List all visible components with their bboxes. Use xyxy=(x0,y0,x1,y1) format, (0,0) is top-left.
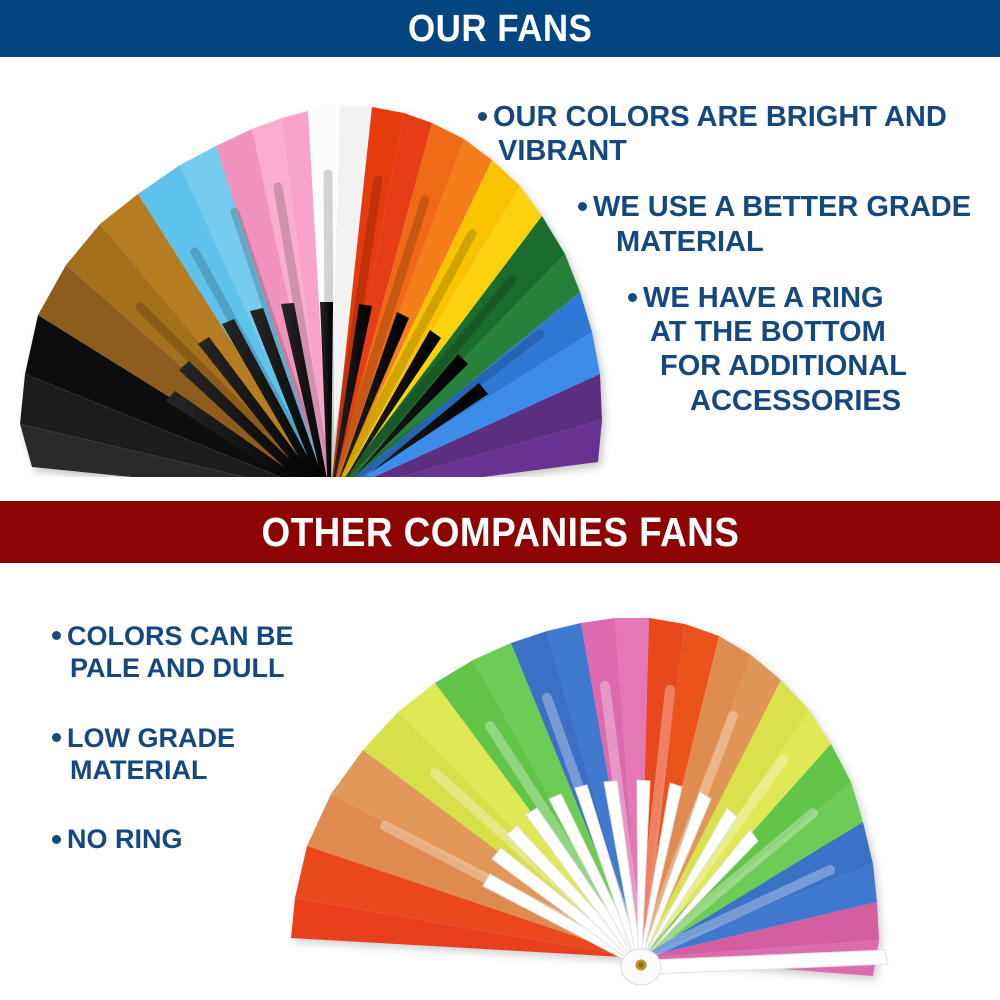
section-other-companies-fans: COLORS CAN BE PALE AND DULL LOW GRADE MA… xyxy=(0,563,1000,1000)
bullet-item: WE USE A BETTER GRADE MATERIAL xyxy=(460,190,990,258)
other-companies-bullet-list: COLORS CAN BE PALE AND DULL LOW GRADE MA… xyxy=(40,621,370,894)
our-fans-bullet-list: OUR COLORS ARE BRIGHT AND VIBRANT WE USE… xyxy=(460,100,990,440)
bullet-line: VIBRANT xyxy=(460,134,990,168)
bullet-dot-icon xyxy=(52,631,61,640)
bullet-item: LOW GRADE MATERIAL xyxy=(40,723,370,787)
bullet-dot-icon xyxy=(52,733,61,742)
section-our-fans: OUR COLORS ARE BRIGHT AND VIBRANT WE USE… xyxy=(0,57,1000,501)
bullet-dot-icon xyxy=(578,202,587,211)
bullet-line: PALE AND DULL xyxy=(70,653,370,685)
bullet-item: WE HAVE A RING AT THE BOTTOM FOR ADDITIO… xyxy=(460,281,990,418)
bullet-line: ACCESSORIES xyxy=(690,384,990,418)
bullet-text: LOW GRADE xyxy=(67,723,235,753)
bullet-text: WE USE A BETTER GRADE xyxy=(593,191,971,223)
bullet-line: COLORS CAN BE xyxy=(52,621,370,653)
bullet-text: NO RING xyxy=(67,824,183,854)
banner-our-fans: OUR FANS xyxy=(0,0,1000,57)
fan-pivot-no-ring xyxy=(621,949,661,985)
bullet-text: OUR COLORS ARE BRIGHT AND xyxy=(493,101,947,133)
bullet-line: WE HAVE A RING xyxy=(628,281,990,315)
bullet-line: MATERIAL xyxy=(70,755,370,787)
bullet-text: COLORS CAN BE xyxy=(67,621,294,651)
bullet-line: OUR COLORS ARE BRIGHT AND xyxy=(478,100,990,134)
bullet-text: WE HAVE A RING xyxy=(643,282,884,314)
bullet-line: LOW GRADE xyxy=(52,723,370,755)
banner-our-fans-title: OUR FANS xyxy=(408,10,592,48)
bullet-line: WE USE A BETTER GRADE xyxy=(578,190,990,224)
other-companies-fan-image xyxy=(285,598,945,988)
bullet-item: NO RING xyxy=(40,824,370,856)
banner-other-companies-fans-title: OTHER COMPANIES FANS xyxy=(261,512,739,553)
bullet-line: MATERIAL xyxy=(578,225,990,259)
bullet-line: NO RING xyxy=(52,824,370,856)
bullet-line: FOR ADDITIONAL xyxy=(660,349,990,383)
bullet-dot-icon xyxy=(478,112,487,121)
bullet-dot-icon xyxy=(628,293,637,302)
banner-other-companies-fans: OTHER COMPANIES FANS xyxy=(0,501,1000,563)
bullet-item: OUR COLORS ARE BRIGHT AND VIBRANT xyxy=(460,100,990,168)
bullet-dot-icon xyxy=(52,835,61,844)
infographic-page: OUR FANS xyxy=(0,0,1000,1000)
bullet-line: AT THE BOTTOM xyxy=(650,315,990,349)
bullet-item: COLORS CAN BE PALE AND DULL xyxy=(40,621,370,685)
